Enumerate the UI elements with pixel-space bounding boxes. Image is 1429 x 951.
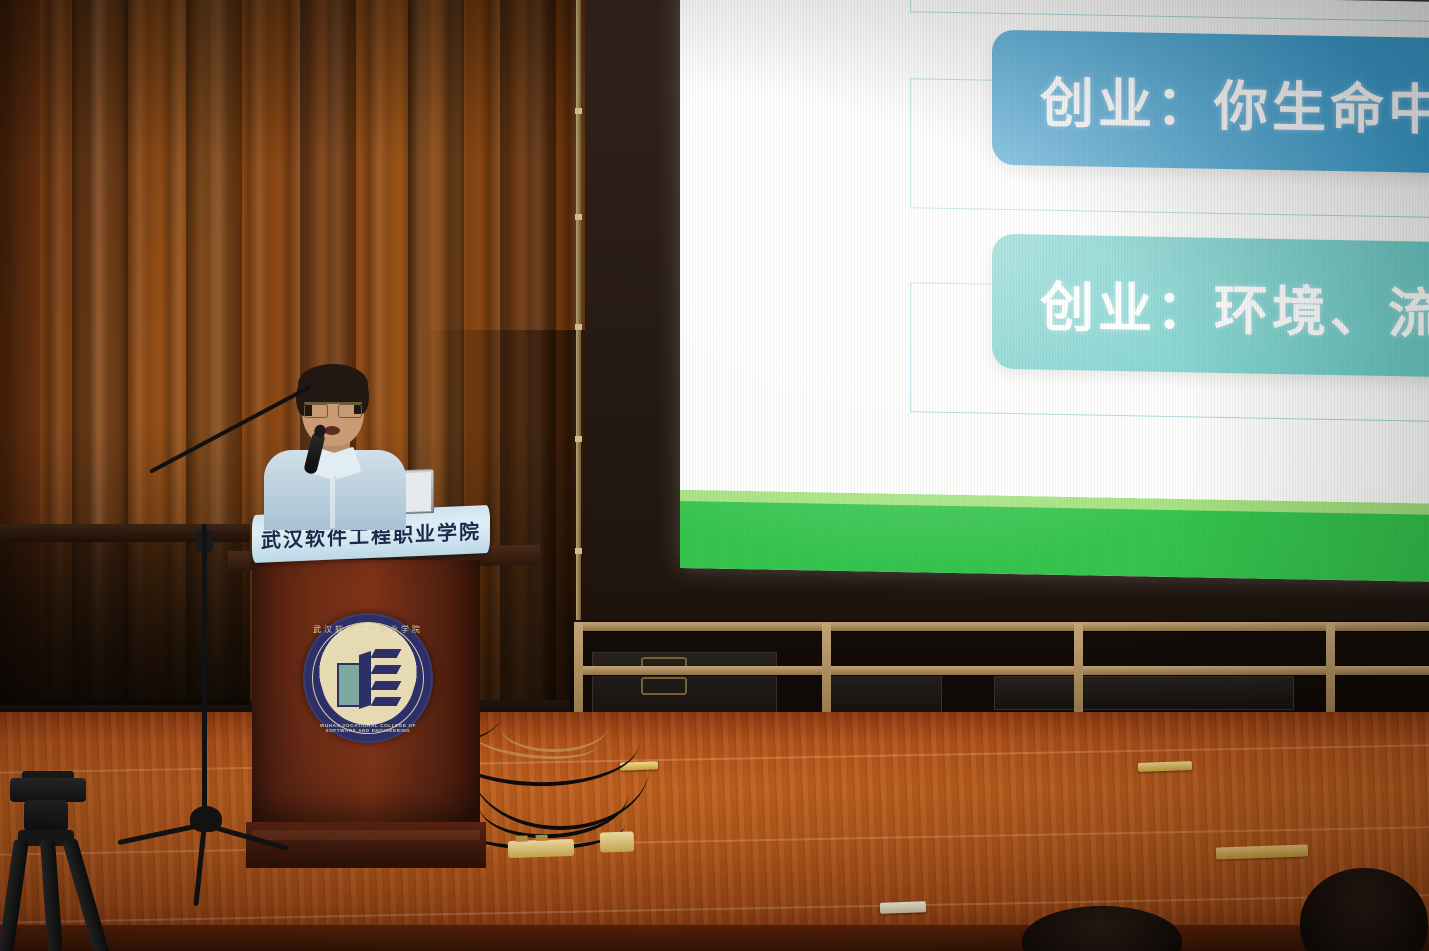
floor-seam (0, 894, 1429, 923)
slide-footer-band (680, 490, 1429, 582)
tripod-head (10, 778, 86, 802)
equipment-case (994, 676, 1294, 710)
slide-bar-blue: 创业：你生命中 (992, 30, 1429, 174)
power-strip-socket (516, 835, 528, 841)
power-strip-socket (536, 835, 548, 841)
emblem-field (321, 631, 415, 725)
case-handle (641, 677, 687, 695)
pole-joint (575, 214, 582, 220)
speaker-mouth (324, 426, 340, 435)
tripod-center-column (24, 800, 68, 832)
mic-stand-pole (202, 524, 207, 824)
floor-paper-scrap (880, 901, 926, 914)
speaker-person (258, 362, 414, 522)
vertical-pole (576, 0, 581, 640)
mic-tripod-leg (117, 822, 204, 845)
tripod-leg (0, 839, 29, 951)
truss-rail (574, 666, 1429, 675)
mic-stand-tripod-base (120, 806, 290, 870)
pole-joint (575, 436, 582, 442)
pole-joint (575, 548, 582, 554)
projected-slide: 创业：你生命中 创业：环境、流 (680, 0, 1429, 582)
speaker-glasses (304, 402, 362, 415)
floor-seam (0, 744, 1429, 773)
pole-joint (575, 324, 582, 330)
college-emblem: 武汉软件工程职业学院 WUHAN VOCATIONAL COLLEGE OF S… (303, 613, 433, 743)
mic-tripod-leg (203, 822, 289, 851)
tripod-leg (40, 839, 63, 951)
floor-tape-marker (1138, 761, 1192, 772)
emblem-book-icon (337, 649, 399, 707)
auditorium-scene: 创业：你生命中 创业：环境、流 (0, 0, 1429, 951)
truss-rail (574, 622, 1429, 631)
power-strip (508, 839, 575, 858)
slide-outline-box (910, 0, 1429, 22)
power-adapter (600, 831, 635, 852)
slide-bar-teal: 创业：环境、流 (992, 234, 1429, 378)
floor-front-edge (0, 925, 1429, 951)
backstage-dark-area (0, 540, 250, 705)
tripod-leg (62, 838, 109, 951)
pole-joint (575, 108, 582, 114)
camera-tripod (0, 778, 118, 951)
